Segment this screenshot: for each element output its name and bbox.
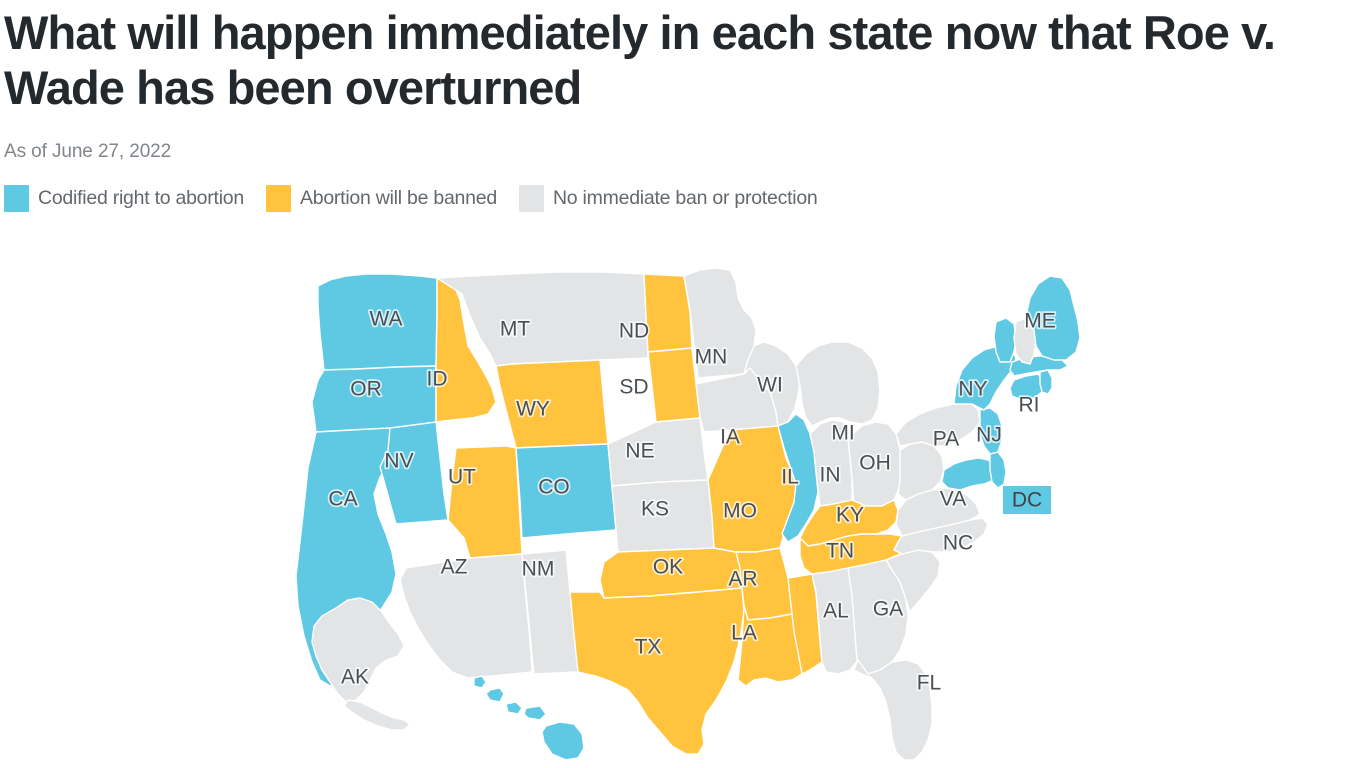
state-label-ND: ND (619, 320, 649, 343)
state-label-AK: AK (341, 666, 369, 689)
state-DE[interactable] (990, 452, 1006, 488)
state-label-ME: ME (1024, 310, 1056, 333)
legend-label-codified: Codified right to abortion (38, 187, 244, 210)
state-ND[interactable] (644, 274, 692, 352)
state-label-NC: NC (943, 532, 973, 555)
state-label-CO: CO (538, 476, 570, 499)
legend-label-neither: No immediate ban or protection (553, 187, 818, 210)
state-label-DC: DC (1012, 489, 1042, 512)
state-TX[interactable] (570, 588, 744, 754)
state-label-IL: IL (781, 466, 799, 489)
as-of-date: As of June 27, 2022 (0, 115, 1366, 163)
map-svg: WA OR CA NV ID MT WY UT CO AZ NM ND SD N… (0, 262, 1366, 768)
state-SD[interactable] (648, 348, 700, 422)
state-NV[interactable] (380, 422, 448, 524)
state-label-OR: OR (350, 378, 382, 401)
state-label-TN: TN (826, 540, 854, 563)
state-label-MI: MI (831, 422, 854, 445)
state-label-RI: RI (1019, 394, 1040, 417)
state-label-LA: LA (731, 622, 757, 645)
state-label-UT: UT (448, 466, 476, 489)
state-label-AR: AR (728, 568, 757, 591)
infographic-page: What will happen immediately in each sta… (0, 0, 1366, 768)
state-label-IN: IN (820, 464, 841, 487)
state-NE[interactable] (608, 418, 708, 486)
state-MI[interactable] (796, 342, 880, 426)
state-label-OH: OH (859, 452, 891, 475)
state-label-MT: MT (500, 318, 530, 341)
state-label-AZ: AZ (441, 556, 468, 579)
state-label-MO: MO (723, 500, 757, 523)
state-VT[interactable] (994, 318, 1016, 362)
state-label-MN: MN (695, 346, 728, 369)
legend-item-neither[interactable]: No immediate ban or protection (519, 185, 818, 212)
state-shapes (296, 268, 1080, 760)
state-label-ID: ID (427, 368, 448, 391)
legend-item-codified[interactable]: Codified right to abortion (4, 185, 244, 212)
state-RI[interactable] (1040, 370, 1052, 394)
state-label-KY: KY (836, 504, 864, 527)
state-label-WI: WI (757, 374, 783, 397)
state-label-WA: WA (369, 308, 402, 331)
state-label-KS: KS (641, 498, 669, 521)
state-label-NV: NV (384, 450, 413, 473)
page-title: What will happen immediately in each sta… (0, 0, 1364, 115)
state-label-TX: TX (635, 636, 662, 659)
state-label-GA: GA (873, 598, 903, 621)
state-label-PA: PA (933, 428, 959, 451)
state-label-FL: FL (917, 672, 942, 695)
state-label-WY: WY (516, 398, 550, 421)
legend-swatch-banned (266, 185, 291, 212)
state-label-NY: NY (958, 378, 987, 401)
state-label-NJ: NJ (976, 424, 1002, 447)
legend-swatch-neither (519, 185, 544, 212)
legend-label-banned: Abortion will be banned (300, 187, 497, 210)
legend: Codified right to abortion Abortion will… (0, 163, 1366, 212)
state-label-NM: NM (522, 558, 555, 581)
state-label-AL: AL (823, 600, 849, 623)
state-label-VA: VA (940, 488, 966, 511)
state-HI[interactable] (474, 676, 584, 760)
state-label-IA: IA (720, 426, 740, 449)
state-label-OK: OK (653, 556, 683, 579)
legend-swatch-codified (4, 185, 29, 212)
state-label-NE: NE (625, 440, 654, 463)
state-AK-tail (344, 700, 410, 730)
legend-item-banned[interactable]: Abortion will be banned (266, 185, 497, 212)
us-choropleth-map: WA OR CA NV ID MT WY UT CO AZ NM ND SD N… (0, 262, 1366, 768)
state-UT[interactable] (448, 446, 522, 558)
state-label-CA: CA (328, 488, 357, 511)
state-WY[interactable] (496, 360, 608, 448)
state-label-SD: SD (619, 376, 648, 399)
